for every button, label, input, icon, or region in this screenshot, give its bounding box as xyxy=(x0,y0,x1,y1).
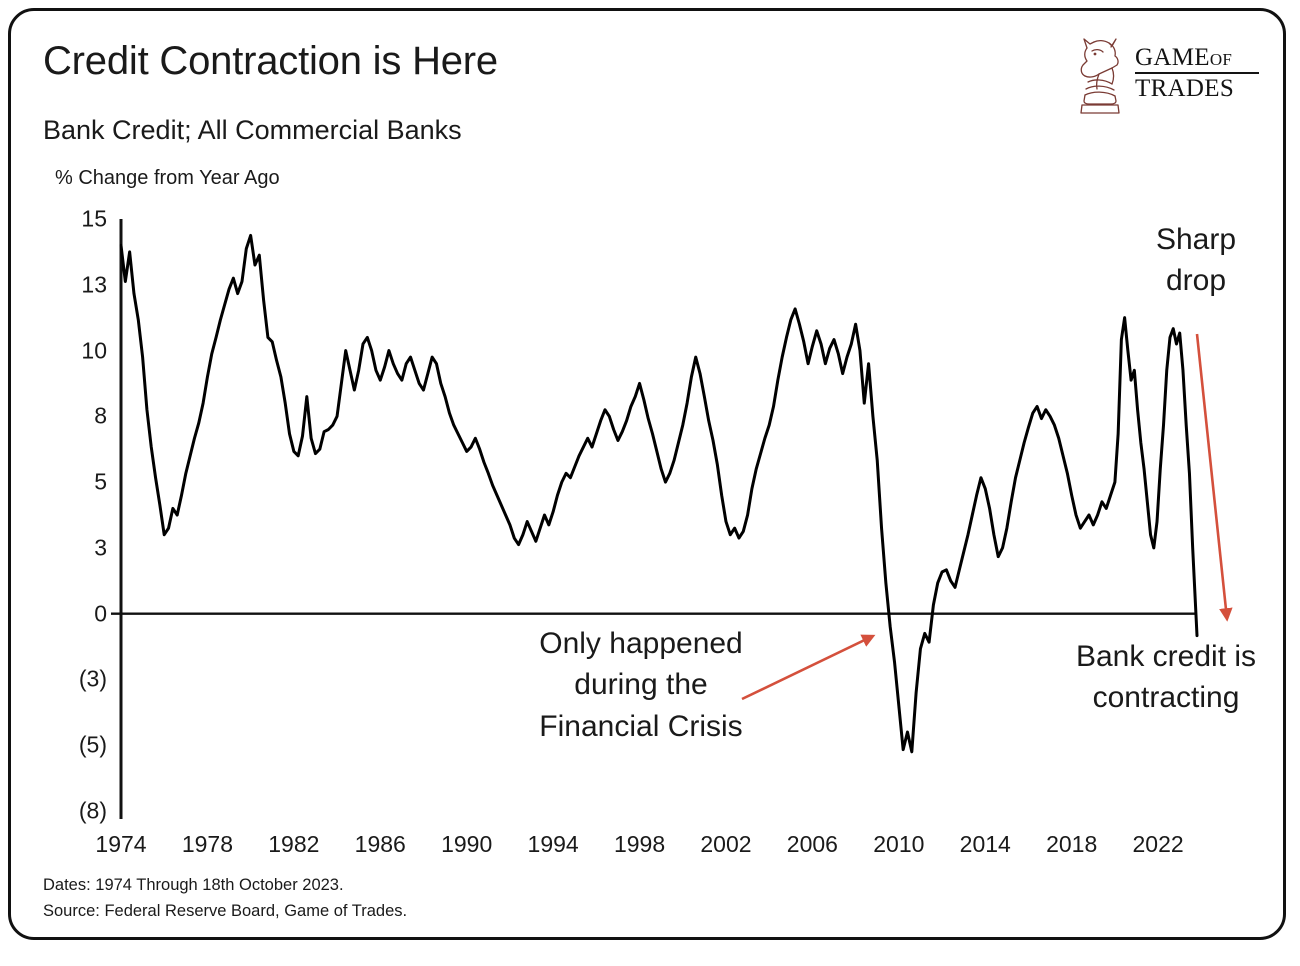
y-tick-10: 10 xyxy=(49,337,107,364)
x-tick-2010: 2010 xyxy=(873,831,924,858)
y-axis-unit-label: % Change from Year Ago xyxy=(55,167,280,190)
bull-chess-knight-icon xyxy=(1071,35,1129,117)
chart-card: Credit Contraction is Here Bank Credit; … xyxy=(8,8,1286,940)
y-tick-8: 8 xyxy=(49,403,107,430)
logo-line1: GAME xyxy=(1135,44,1210,71)
y-tick-n3n: (3) xyxy=(49,666,107,693)
y-tick-13: 13 xyxy=(49,271,107,298)
x-tick-1986: 1986 xyxy=(355,831,406,858)
x-tick-1998: 1998 xyxy=(614,831,665,858)
brand-logo: GAMEOF TRADES xyxy=(1071,33,1261,119)
footer-dates: Dates: 1974 Through 18th October 2023. xyxy=(43,873,407,899)
logo-of: OF xyxy=(1210,50,1232,69)
page-title: Credit Contraction is Here xyxy=(43,39,498,84)
chart-plot-area xyxy=(11,11,1300,966)
x-tick-2018: 2018 xyxy=(1046,831,1097,858)
annotation-bank-credit-contracting: Bank credit is contracting xyxy=(1041,636,1291,719)
annotation-sharp-drop: Sharp drop xyxy=(1101,219,1291,302)
y-tick-n5n: (5) xyxy=(49,732,107,759)
x-tick-1994: 1994 xyxy=(528,831,579,858)
footer-notes: Dates: 1974 Through 18th October 2023. S… xyxy=(43,873,407,924)
annotation-financial-crisis: Only happened during the Financial Crisi… xyxy=(491,623,791,747)
sharp-drop-arrow xyxy=(1197,334,1227,619)
x-tick-1982: 1982 xyxy=(268,831,319,858)
logo-divider xyxy=(1135,72,1259,74)
x-tick-2022: 2022 xyxy=(1133,831,1184,858)
x-tick-1978: 1978 xyxy=(182,831,233,858)
x-tick-1990: 1990 xyxy=(441,831,492,858)
x-tick-2002: 2002 xyxy=(700,831,751,858)
y-tick-5: 5 xyxy=(49,469,107,496)
footer-source: Source: Federal Reserve Board, Game of T… xyxy=(43,899,407,925)
x-tick-2014: 2014 xyxy=(960,831,1011,858)
y-tick-n8n: (8) xyxy=(49,798,107,825)
y-tick-3: 3 xyxy=(49,534,107,561)
brand-wordmark: GAMEOF TRADES xyxy=(1135,45,1261,101)
logo-line2: TRADES xyxy=(1135,75,1234,102)
x-tick-2006: 2006 xyxy=(787,831,838,858)
chart-subtitle: Bank Credit; All Commercial Banks xyxy=(43,115,462,146)
y-tick-15: 15 xyxy=(49,206,107,233)
y-tick-0: 0 xyxy=(49,600,107,627)
x-tick-1974: 1974 xyxy=(95,831,146,858)
